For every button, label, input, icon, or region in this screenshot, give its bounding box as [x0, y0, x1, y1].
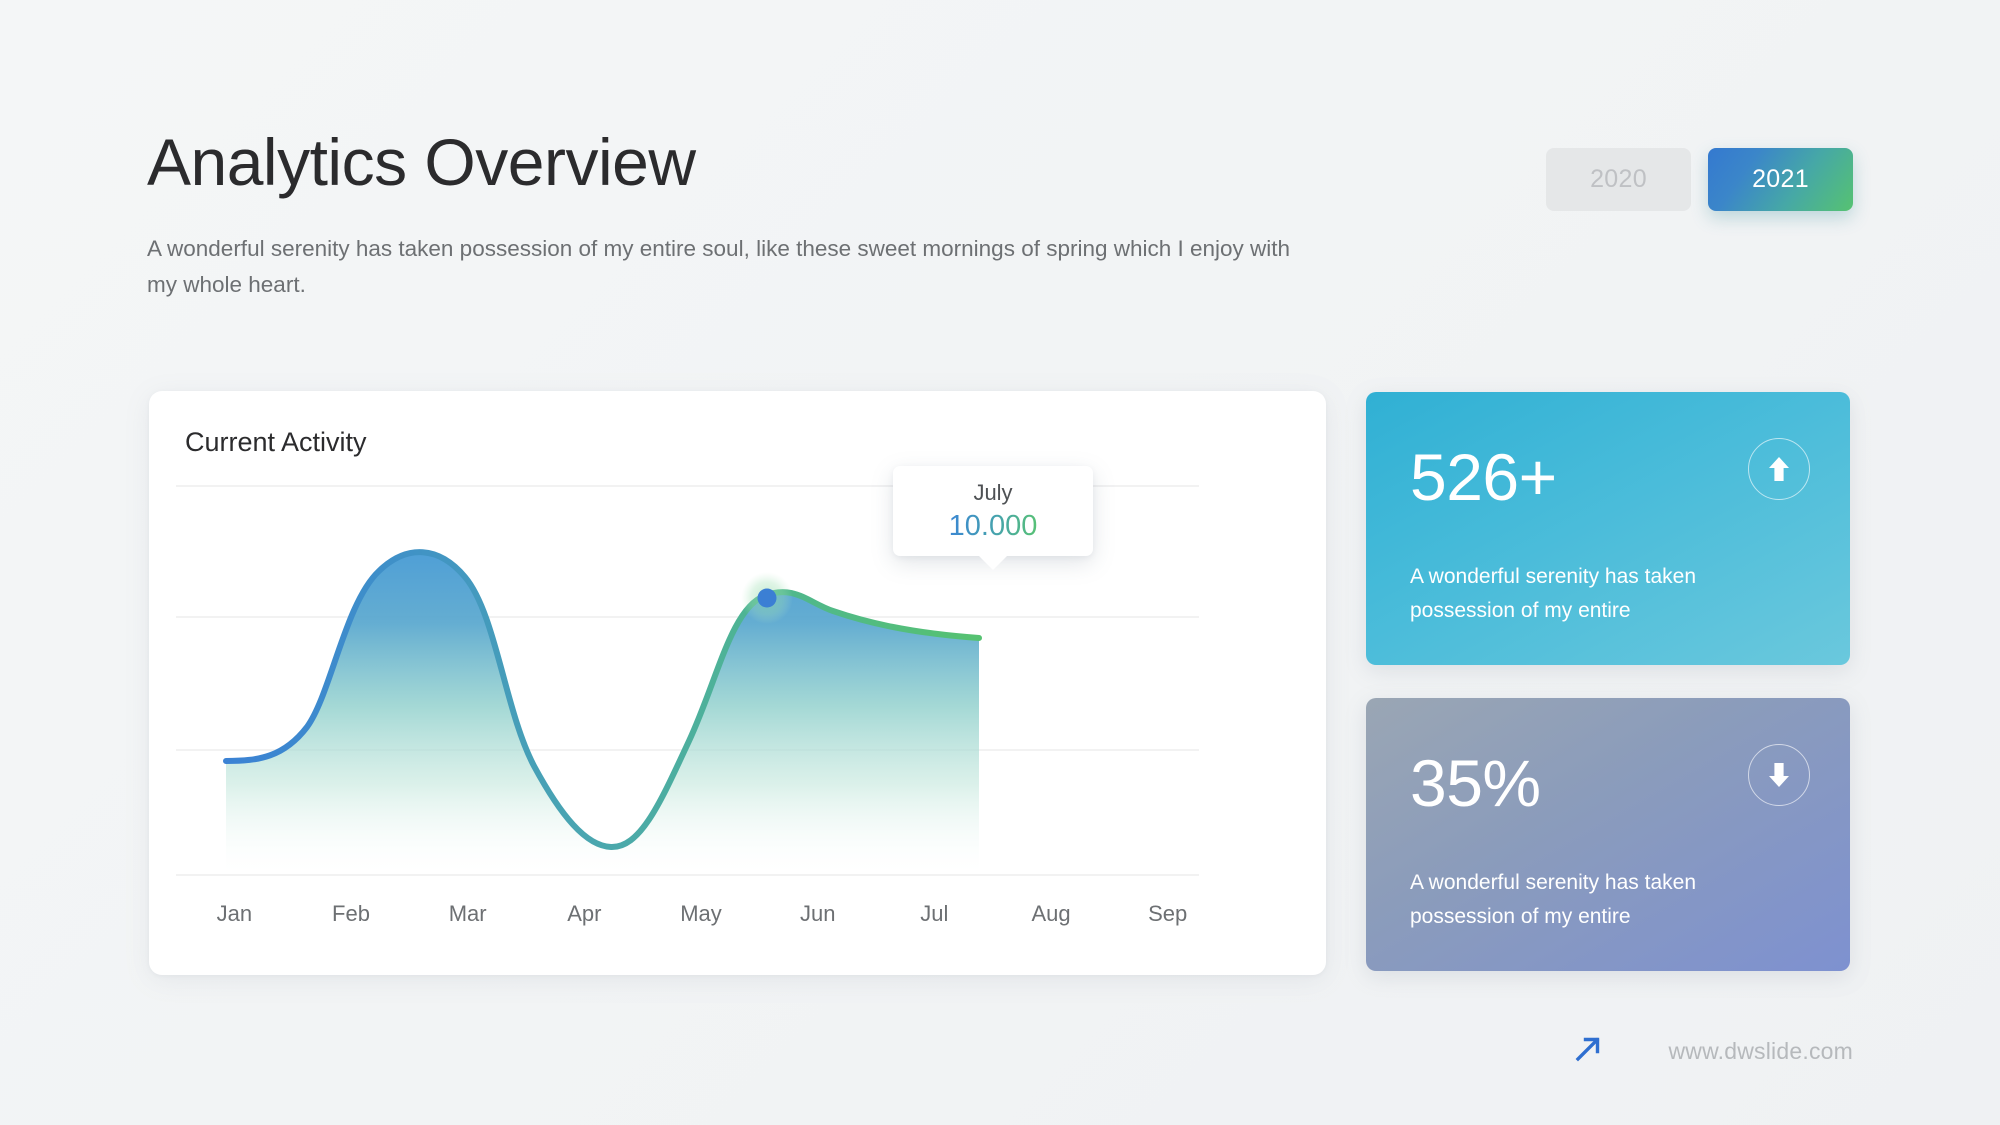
x-tick-aug: Aug — [993, 901, 1110, 927]
page-subtitle: A wonderful serenity has taken possessio… — [147, 231, 1297, 304]
x-tick-jun: Jun — [759, 901, 876, 927]
stat-value: 526+ — [1410, 444, 1557, 510]
stat-description: A wonderful serenity has taken possessio… — [1410, 866, 1740, 934]
year-toggle-group: 2020 2021 — [1546, 148, 1853, 211]
chart-highlight-point[interactable] — [741, 572, 793, 624]
stat-card-visitors[interactable]: 526+ A wonderful serenity has taken poss… — [1366, 392, 1850, 665]
x-tick-sep: Sep — [1109, 901, 1226, 927]
year-button-2020[interactable]: 2020 — [1546, 148, 1691, 211]
arrow-up-icon — [1748, 438, 1810, 500]
arrow-down-icon — [1748, 744, 1810, 806]
tooltip-value: 10.000 — [949, 510, 1038, 543]
x-tick-jan: Jan — [176, 901, 293, 927]
footer: www.dwslide.com — [1569, 1030, 1854, 1073]
year-button-2021[interactable]: 2021 — [1708, 148, 1853, 211]
x-tick-apr: Apr — [526, 901, 643, 927]
chart-x-axis: Jan Feb Mar Apr May Jun Jul Aug Sep — [176, 901, 1226, 927]
x-tick-feb: Feb — [293, 901, 410, 927]
tooltip-month-label: July — [973, 480, 1012, 506]
stat-value: 35% — [1410, 750, 1541, 816]
stat-card-bounce-rate[interactable]: 35% A wonderful serenity has taken posse… — [1366, 698, 1850, 971]
x-tick-jul: Jul — [876, 901, 993, 927]
footer-url: www.dwslide.com — [1669, 1038, 1854, 1065]
chart-card: Current Activity — [149, 391, 1326, 975]
external-link-arrow-icon[interactable] — [1569, 1030, 1607, 1073]
activity-area-chart[interactable] — [149, 391, 1326, 975]
chart-area-fill — [226, 552, 979, 875]
x-tick-may: May — [643, 901, 760, 927]
chart-tooltip: July 10.000 — [893, 466, 1093, 556]
x-tick-mar: Mar — [409, 901, 526, 927]
stat-description: A wonderful serenity has taken possessio… — [1410, 560, 1740, 628]
